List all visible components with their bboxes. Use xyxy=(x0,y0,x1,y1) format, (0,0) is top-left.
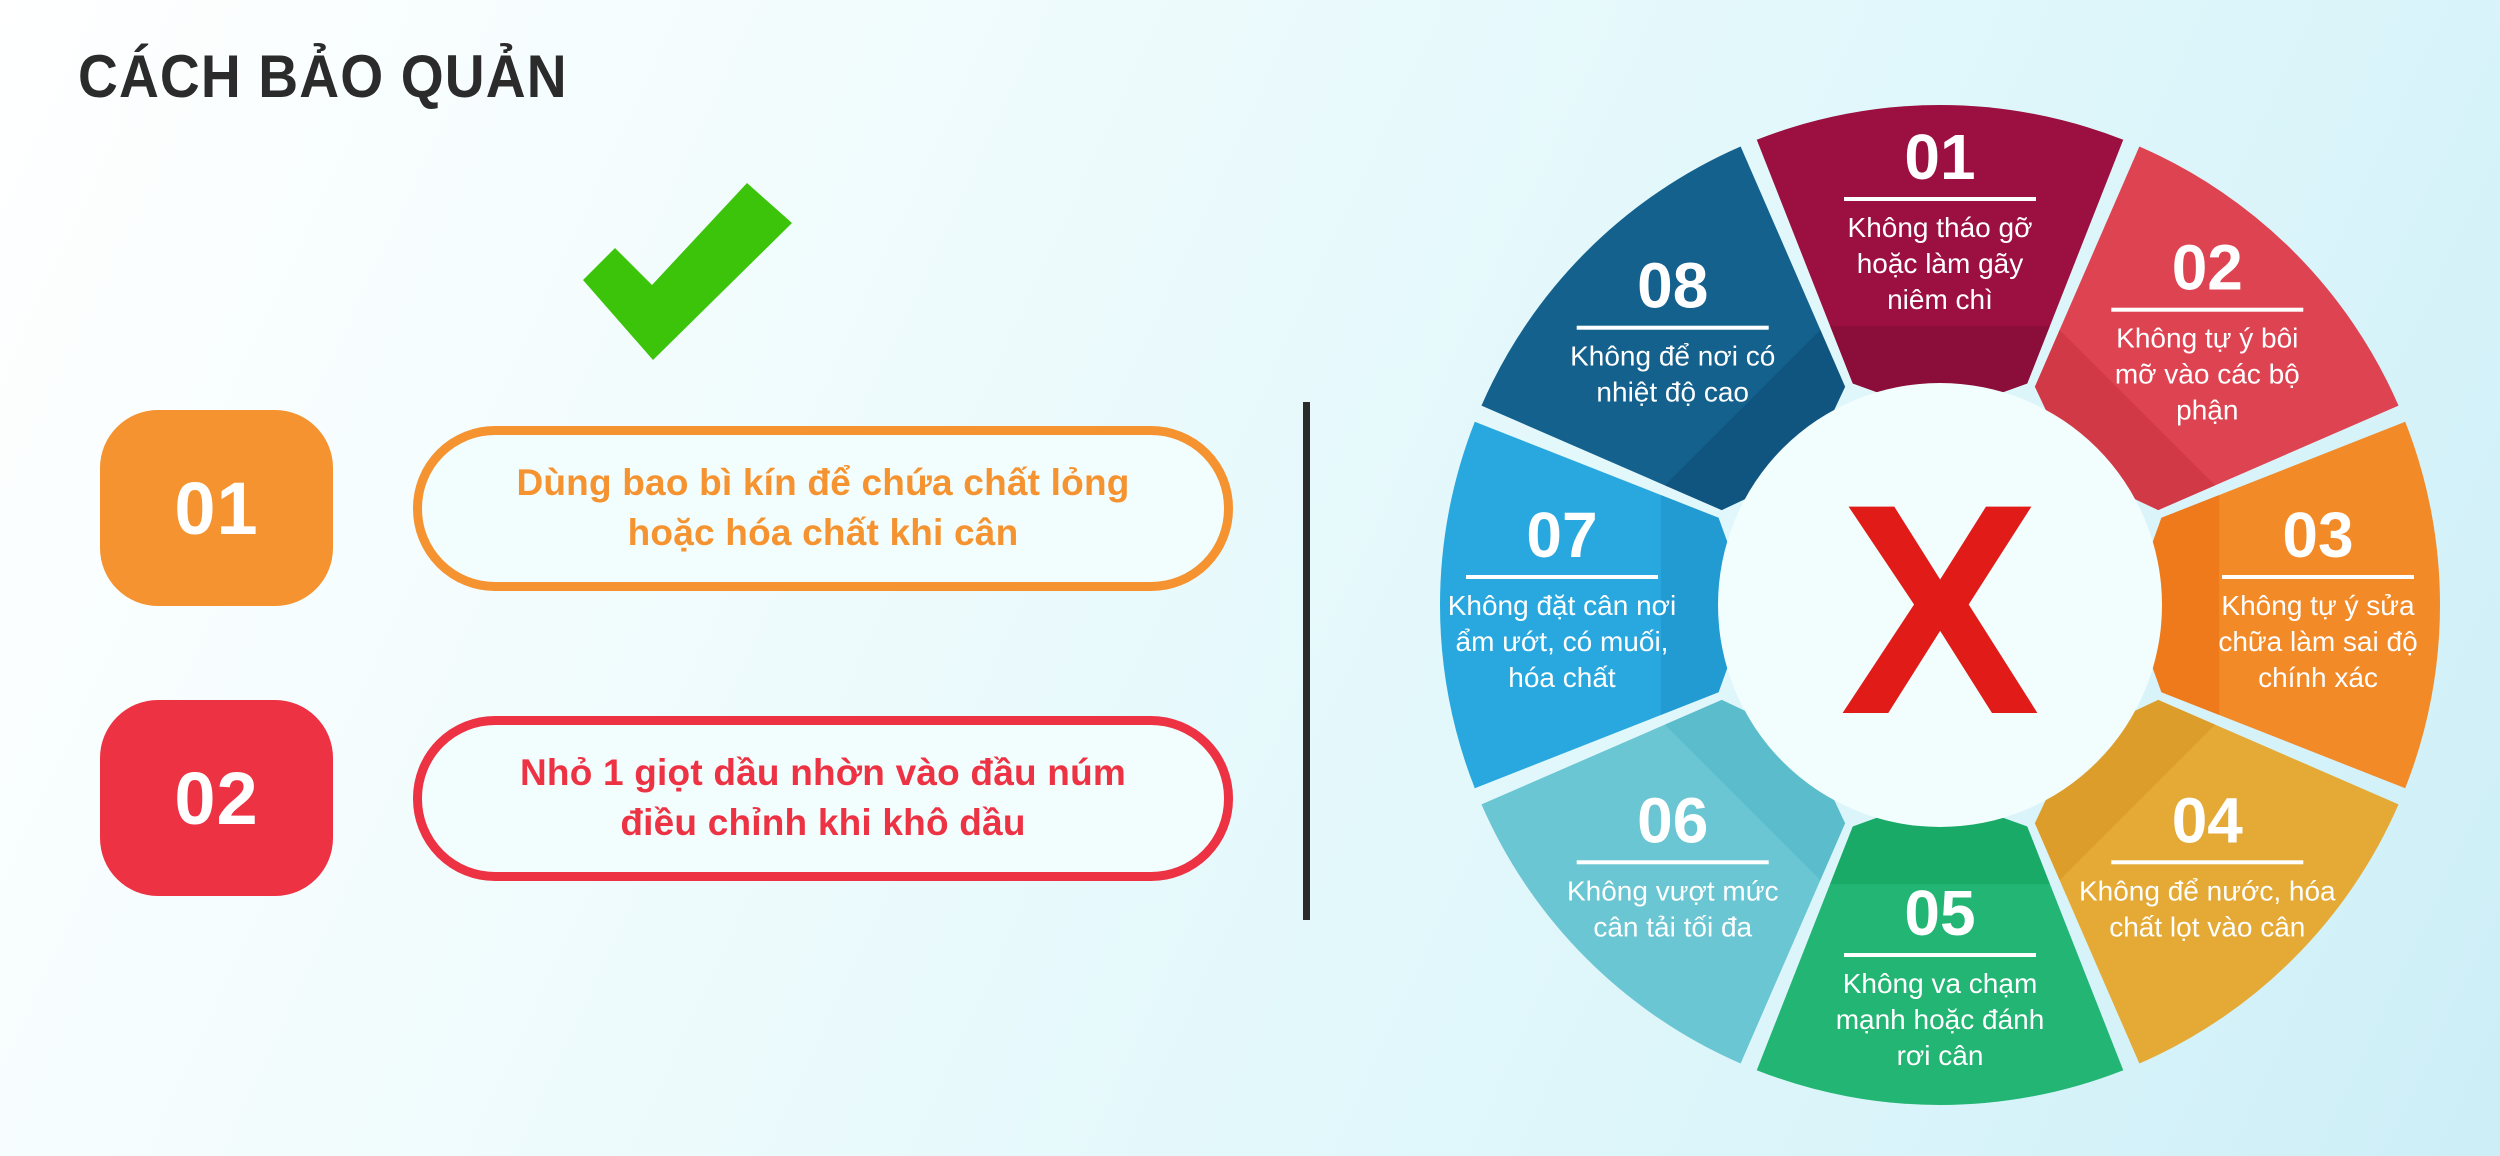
wheel-segment-desc-06-line2: cân tải tối đa xyxy=(1593,911,1752,942)
wheel-segment-desc-03-line3: chính xác xyxy=(2258,662,2378,693)
wheel-svg: X 01Không tháo gỡhoặc làm gãyniêm chì02K… xyxy=(1380,55,2500,1155)
list-item-card-01[interactable]: Dùng bao bì kín để chứa chất lỏng hoặc h… xyxy=(413,426,1233,591)
wheel-segment-number-03: 03 xyxy=(2282,499,2353,571)
list-item-text-01: Dùng bao bì kín để chứa chất lỏng hoặc h… xyxy=(482,458,1163,558)
vertical-divider xyxy=(1303,402,1310,920)
wheel-segment-rule-05 xyxy=(1844,953,2036,957)
wheel-segment-desc-07-line2: ẩm ướt, có muối, xyxy=(1456,626,1669,657)
wheel-segment-rule-08 xyxy=(1577,326,1769,330)
wheel-segment-rule-04 xyxy=(2111,860,2303,864)
wheel-segment-rule-02 xyxy=(2111,308,2303,312)
wheel-segment-desc-04-line2: chất lọt vào cân xyxy=(2109,911,2305,942)
wheel-segment-desc-01-line3: niêm chì xyxy=(1887,284,1993,315)
check-mark-icon xyxy=(575,175,800,390)
wheel-segment-desc-04-line1: Không để nước, hóa xyxy=(2079,875,2336,906)
wheel-segment-rule-01 xyxy=(1844,197,2036,201)
wheel-segment-desc-02-line1: Không tự ý bôi xyxy=(2116,323,2298,354)
list-item-badge-02: 02 xyxy=(100,700,333,896)
list-item-badge-01: 01 xyxy=(100,410,333,606)
left-panel: CÁCH BẢO QUẢN 01 Dùng bao bì kín để chứa… xyxy=(0,0,1300,1156)
wheel-segment-desc-08-line2: nhiệt độ cao xyxy=(1596,377,1749,408)
wheel-segment-number-01: 01 xyxy=(1904,121,1975,193)
wheel-segment-desc-05-line1: Không va chạm xyxy=(1843,968,2038,999)
wheel-segment-desc-05-line3: rơi cân xyxy=(1897,1040,1984,1071)
wheel-segment-desc-07-line1: Không đặt cân nơi xyxy=(1448,590,1677,621)
wheel-segment-desc-07-line3: hóa chất xyxy=(1508,662,1616,693)
page-title: CÁCH BẢO QUẢN xyxy=(78,42,568,111)
list-item-text-02: Nhỏ 1 giọt dầu nhờn vào đầu núm điều chỉ… xyxy=(486,748,1160,848)
wheel-segment-rule-03 xyxy=(2222,575,2414,579)
wheel-segment-desc-01-line1: Không tháo gỡ xyxy=(1848,212,2033,243)
wheel-segment-desc-01-line2: hoặc làm gãy xyxy=(1857,248,2024,279)
wheel-segment-desc-08-line1: Không để nơi có xyxy=(1570,341,1775,372)
wheel-segment-rule-06 xyxy=(1577,860,1769,864)
wheel-segment-rule-07 xyxy=(1466,575,1658,579)
list-item-text-02-line2: điều chỉnh khi khô dầu xyxy=(620,802,1025,843)
wheel-segment-number-05: 05 xyxy=(1904,877,1975,949)
list-item-text-01-line2: hoặc hóa chất khi cân xyxy=(628,512,1019,553)
wheel-segment-desc-03-line1: Không tự ý sửa xyxy=(2221,590,2415,621)
list-item[interactable]: 02 Nhỏ 1 giọt dầu nhờn vào đầu núm điều … xyxy=(100,700,1233,896)
wheel-segment-desc-03-line2: chữa làm sai độ xyxy=(2218,626,2417,657)
wheel-segment-number-07: 07 xyxy=(1526,499,1597,571)
wheel-segment-number-08: 08 xyxy=(1637,250,1708,322)
wheel-diagram: X 01Không tháo gỡhoặc làm gãyniêm chì02K… xyxy=(1380,55,2500,1155)
wheel-segment-number-04: 04 xyxy=(2172,784,2244,856)
list-item[interactable]: 01 Dùng bao bì kín để chứa chất lỏng hoặ… xyxy=(100,410,1233,606)
wheel-segment-number-02: 02 xyxy=(2172,232,2243,304)
list-item-text-02-line1: Nhỏ 1 giọt dầu nhờn vào đầu núm xyxy=(520,752,1126,793)
center-x-icon: X xyxy=(1840,441,2042,777)
wheel-segment-desc-05-line2: mạnh hoặc đánh xyxy=(1836,1004,2045,1035)
wheel-segment-desc-02-line2: mỡ vào các bộ xyxy=(2115,359,2300,390)
list-item-text-01-line1: Dùng bao bì kín để chứa chất lỏng xyxy=(516,462,1129,503)
wheel-segment-number-06: 06 xyxy=(1637,784,1708,856)
wheel-segment-desc-02-line3: phận xyxy=(2176,395,2238,426)
list-item-card-02[interactable]: Nhỏ 1 giọt dầu nhờn vào đầu núm điều chỉ… xyxy=(413,716,1233,881)
wheel-segment-desc-06-line1: Không vượt mức xyxy=(1567,875,1778,906)
